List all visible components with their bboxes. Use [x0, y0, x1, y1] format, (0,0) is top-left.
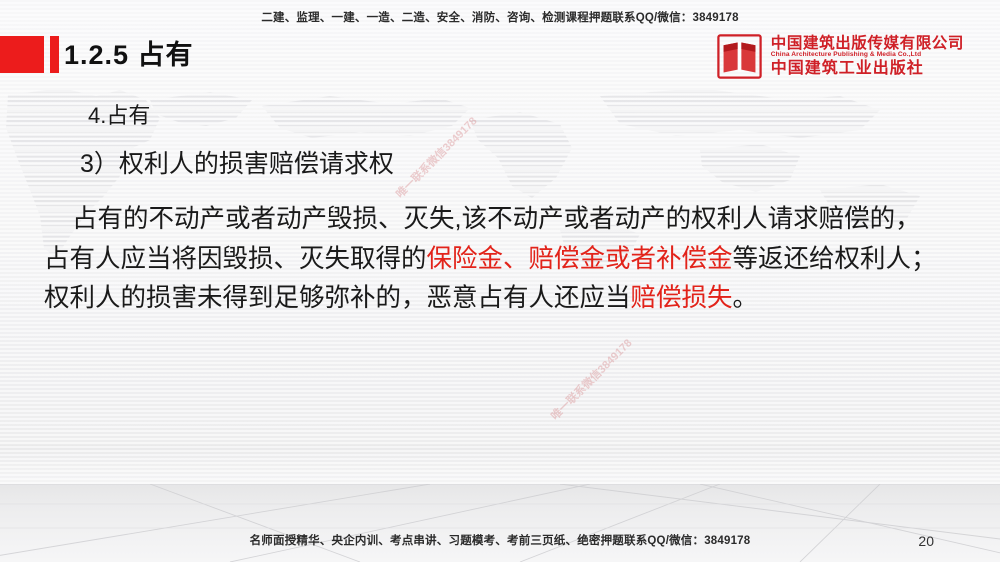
- body-paragraph: 占有的不动产或者动产毁损、灭失,该不动产或者动产的权利人请求赔偿的， 占有人应当…: [44, 200, 1000, 319]
- footer-text: 名师面授精华、央企内训、考点串讲、习题模考、考前三页纸、绝密押题联系QQ/微信：…: [0, 532, 1000, 548]
- publisher-logo-text: 中国建筑出版传媒有限公司 China Architecture Publishi…: [771, 36, 964, 77]
- book-logo-icon: [717, 34, 762, 79]
- line3-text-b: 。: [733, 284, 759, 312]
- floor-glow-band: [0, 444, 1000, 484]
- top-banner-text: 二建、监理、一建、一造、二造、安全、消防、咨询、检测课程押题联系QQ/微信：38…: [0, 9, 1000, 25]
- line3-highlight: 赔偿损失: [631, 284, 733, 312]
- heading-level-2: 3）权利人的损害赔偿请求权: [80, 146, 1000, 182]
- floor-perspective-lines: [0, 484, 1000, 562]
- watermark-lower: 唯一联系微信3849178: [547, 335, 635, 423]
- perspective-floor: [0, 484, 1000, 562]
- publisher-logo: 中国建筑出版传媒有限公司 China Architecture Publishi…: [717, 34, 964, 79]
- line2-highlight: 保险金、赔偿金或者补偿金: [427, 245, 733, 273]
- logo-press-cn: 中国建筑工业出版社: [771, 60, 964, 77]
- logo-company-cn: 中国建筑出版传媒有限公司: [771, 36, 964, 52]
- paragraph-line-2: 占有人应当将因毁损、灭失取得的保险金、赔偿金或者补偿金等返还给权利人；: [44, 240, 1000, 280]
- title-accent-block-small: [50, 36, 59, 73]
- paragraph-line-3: 权利人的损害未得到足够弥补的，恶意占有人还应当赔偿损失。: [44, 279, 1000, 319]
- title-accent-block-large: [0, 36, 44, 73]
- line3-text-a: 权利人的损害未得到足够弥补的，恶意占有人还应当: [44, 284, 631, 312]
- paragraph-line-1: 占有的不动产或者动产毁损、灭失,该不动产或者动产的权利人请求赔偿的，: [44, 200, 1000, 240]
- page-number: 20: [918, 533, 934, 549]
- line2-text-b: 等返还给权利人；: [733, 245, 937, 273]
- slide-body: 4.占有 3）权利人的损害赔偿请求权 占有的不动产或者动产毁损、灭失,该不动产或…: [0, 100, 1000, 319]
- page-title: 1.2.5 占有: [64, 33, 194, 72]
- heading-level-1: 4.占有: [88, 100, 1000, 132]
- slide-canvas: 二建、监理、一建、一造、二造、安全、消防、咨询、检测课程押题联系QQ/微信：38…: [0, 0, 1000, 562]
- line2-text-a: 占有人应当将因毁损、灭失取得的: [44, 245, 427, 273]
